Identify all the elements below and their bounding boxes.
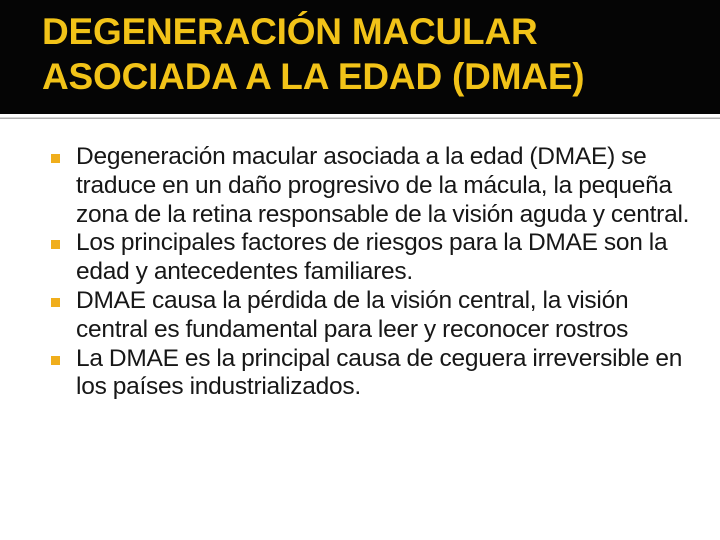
square-bullet-icon bbox=[51, 240, 60, 249]
square-bullet-icon bbox=[51, 298, 60, 307]
square-bullet-icon bbox=[51, 154, 60, 163]
list-item-text: La DMAE es la principal causa de ceguera… bbox=[76, 345, 694, 403]
list-item-text: Degeneración macular asociada a la edad … bbox=[76, 143, 694, 229]
list-item: Degeneración macular asociada a la edad … bbox=[44, 143, 694, 229]
list-item: DMAE causa la pérdida de la visión centr… bbox=[44, 287, 694, 345]
list-item-text: DMAE causa la pérdida de la visión centr… bbox=[76, 287, 694, 345]
divider-rule bbox=[0, 117, 720, 119]
title-band: DEGENERACIÓN MACULAR ASOCIADA A LA EDAD … bbox=[0, 0, 720, 114]
list-item: La DMAE es la principal causa de ceguera… bbox=[44, 345, 694, 403]
square-bullet-icon bbox=[51, 356, 60, 365]
list-item-text: Los principales factores de riesgos para… bbox=[76, 229, 694, 287]
title-divider bbox=[0, 114, 720, 121]
slide: DEGENERACIÓN MACULAR ASOCIADA A LA EDAD … bbox=[0, 0, 720, 540]
page-title: DEGENERACIÓN MACULAR ASOCIADA A LA EDAD … bbox=[42, 9, 702, 99]
slide-body: Degeneración macular asociada a la edad … bbox=[0, 121, 720, 540]
bullet-list: Degeneración macular asociada a la edad … bbox=[0, 121, 720, 402]
list-item: Los principales factores de riesgos para… bbox=[44, 229, 694, 287]
